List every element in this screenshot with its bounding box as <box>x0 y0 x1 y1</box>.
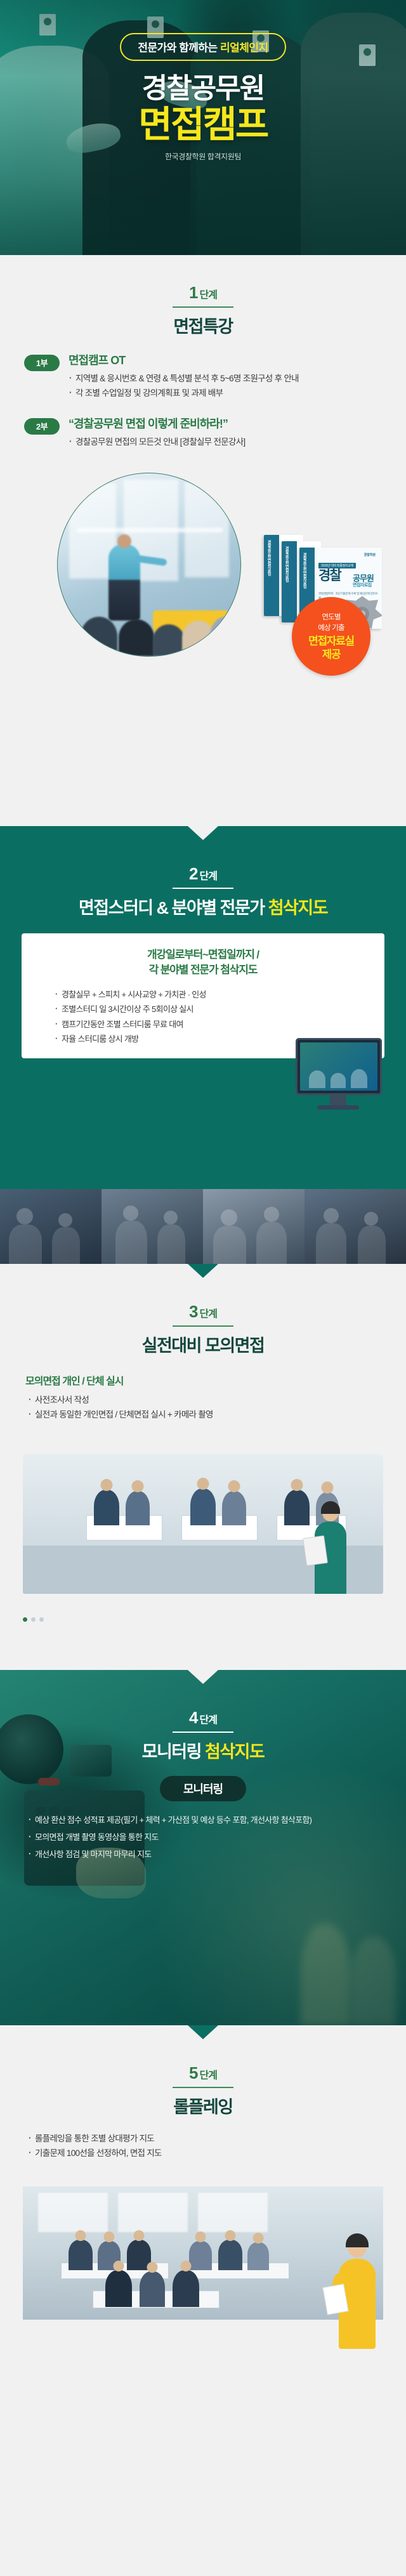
step-3-unit: 단계 <box>200 1309 217 1320</box>
step-2-unit: 단계 <box>200 871 217 882</box>
step-2-title-accent: 첨삭지도 <box>268 898 327 917</box>
step-5-number: 5 <box>189 2063 197 2082</box>
book-tag: 2025년 대비 최종정리교재 <box>318 563 356 568</box>
step-5-header: 5단계 롤플레잉 <box>0 2065 406 2117</box>
step-1-divider <box>173 306 233 308</box>
step-1-number-row: 1단계 <box>189 284 217 301</box>
dot-3[interactable] <box>39 1617 44 1622</box>
card-title-line2: 각 분야별 전문가 첨삭지도 <box>149 964 258 976</box>
step-3-divider <box>173 1325 233 1327</box>
step-4-title-accent: 첨삭지도 <box>205 1742 264 1761</box>
step-2-header: 2단계 면접스터디 & 분야별 전문가 첨삭지도 <box>0 865 406 918</box>
monitoring-pill-badge: 모니터링 <box>160 1776 246 1801</box>
card-title: 개강일로부터~면접일까지 / 각 분야별 전문가 첨삭지도 <box>22 947 384 978</box>
book-spine-text: 경찰공무원 면접자료집 <box>301 553 306 588</box>
bullet-item: 실전과 동일한 개인면접 / 단체면접 실시 + 카메라 촬영 <box>28 1409 406 1421</box>
step-5-visual <box>0 2175 406 2359</box>
section-step-2: 2단계 면접스터디 & 분야별 전문가 첨삭지도 개강일로부터~면접일까지 / … <box>0 826 406 1264</box>
section-step-4: 4단계 모니터링 첨삭지도 모니터링 예상 환산 점수 성적표 제공(필기 + … <box>0 1670 406 2025</box>
bullet-item: 경찰실무 + 스피치 + 시사교양 + 가치관 · 인성 <box>55 989 384 1001</box>
book-title-small: 면접자료집 <box>353 582 372 588</box>
step-1-title: 면접특강 <box>173 318 232 337</box>
bullet-item: 사전조사서 작성 <box>28 1394 406 1407</box>
part-bullets-1bu: 지역별 & 응시번호 & 연령 & 특성별 분석 후 5~6명 조원구성 후 안… <box>69 372 382 400</box>
step-3-bullets: 사전조사서 작성 실전과 동일한 개인면접 / 단체면접 실시 + 카메라 촬영 <box>28 1394 406 1422</box>
bullet-item: 각 조별 수업일정 및 강의계획표 및 과제 배부 <box>69 387 382 400</box>
card-bullets: 경찰실무 + 스피치 + 시사교양 + 가치관 · 인성 조별스터디 일 3시간… <box>22 989 384 1046</box>
photo-pagination-dots[interactable] <box>23 1617 44 1622</box>
bullet-item: 개선사항 점검 및 마지막 마무리 지도 <box>28 1848 383 1861</box>
step-2-title-white: 면접스터디 & 분야별 전문가 <box>79 898 268 917</box>
section-step-5: 5단계 롤플레잉 롤플레잉을 통한 조별 상대평가 지도 기출문제 100선을 … <box>0 2025 406 2381</box>
landing-page: 전문가와 함께하는 리얼체인지 경찰공무원 면접캠프 한국경찰학원 합격지원팀 … <box>0 0 406 2576</box>
step-3-number-row: 3단계 <box>189 1303 217 1320</box>
material-provided-badge: 연도별예상 기출 면접자료실제공 <box>292 597 370 676</box>
badge-top-text: 연도별예상 기출 <box>318 612 344 633</box>
photo-thumb <box>203 1189 304 1264</box>
step-2-number-row: 2단계 <box>189 865 217 882</box>
badge-main-text: 면접자료실제공 <box>308 635 354 661</box>
part-chip-1bu: 1부 <box>24 355 60 371</box>
book-title-big: 경찰 <box>318 569 341 582</box>
bullet-item: 캠프기간동안 조별 스터디룸 무료 대여 <box>55 1018 384 1031</box>
step-4-divider <box>173 1732 233 1733</box>
bullet-item: 롤플레잉을 통한 조별 상대평가 지도 <box>28 2132 406 2145</box>
step-3-subheading: 모의면접 개인 / 단체 실시 <box>25 1372 406 1388</box>
part-chip-2bu: 2부 <box>24 418 60 435</box>
step-2-title: 면접스터디 & 분야별 전문가 첨삭지도 <box>79 899 327 918</box>
section-step-3: 3단계 실전대비 모의면접 모의면접 개인 / 단체 실시 사전조사서 작성 실… <box>0 1264 406 1670</box>
part-row-1bu: 1부 면접캠프 OT 지역별 & 응시번호 & 연령 & 특성별 분석 후 5~… <box>0 353 406 400</box>
hero-ribbon: 전문가와 함께하는 리얼체인지 <box>120 33 285 61</box>
dot-2[interactable] <box>31 1617 36 1622</box>
step-3-header: 3단계 실전대비 모의면접 <box>0 1303 406 1356</box>
step-5-title: 롤플레잉 <box>173 2098 232 2117</box>
bullet-item: 모의면접 개별 촬영 동영상을 통한 지도 <box>28 1831 383 1844</box>
step-5-bullets: 롤플레잉을 통한 조별 상대평가 지도 기출문제 100선을 선정하여, 면접 … <box>28 2132 406 2160</box>
step-4-header: 4단계 모니터링 첨삭지도 <box>0 1709 406 1762</box>
step-2-divider <box>173 888 233 889</box>
step-5-number-row: 5단계 <box>189 2065 217 2081</box>
step-4-title-white: 모니터링 <box>142 1742 205 1761</box>
monitor-illustration <box>296 1038 382 1114</box>
study-photo-strip <box>0 1189 406 1264</box>
bullet-item: 지역별 & 응시번호 & 연령 & 특성별 분석 후 5~6명 조원구성 후 안… <box>69 372 382 385</box>
hero-title-line1: 경찰공무원 <box>142 75 264 103</box>
step-4-bullets: 예상 환산 점수 성적표 제공(필기 + 체력 + 가산점 및 예상 등수 포함… <box>28 1814 383 1861</box>
hero-ribbon-accent: 리얼체인지 <box>220 42 268 54</box>
card-title-line1: 개강일로부터~면접일까지 / <box>147 949 259 961</box>
photo-thumb <box>101 1189 203 1264</box>
book-spine-text: 경찰공무원 면접자료집 <box>284 546 289 582</box>
book-spine-text: 경찰공무원 면접자료집 <box>266 540 271 575</box>
hero-title-line2: 면접캠프 <box>138 107 267 143</box>
section-step-1: 1단계 면접특강 1부 면접캠프 OT 지역별 & 응시번호 & 연령 & 특성… <box>0 255 406 826</box>
bullet-item: 기출문제 100선을 선정하여, 면접 지도 <box>28 2147 406 2160</box>
part-heading-1bu: 면접캠프 OT <box>69 353 382 368</box>
instructor-figure <box>311 1502 350 1594</box>
lecture-photo-circle <box>57 473 241 657</box>
step-1-visual: 경찰공무원 면접자료집 경찰공무원 면접자료집 경찰공무원 면접자료집 경찰학원… <box>0 465 406 719</box>
step-4-unit: 단계 <box>200 1715 217 1726</box>
step-1-unit: 단계 <box>200 290 217 301</box>
hero-banner: 전문가와 함께하는 리얼체인지 경찰공무원 면접캠프 한국경찰학원 합격지원팀 <box>0 0 406 255</box>
presenter-figure <box>334 2231 381 2349</box>
photo-thumb <box>304 1189 406 1264</box>
step-5-unit: 단계 <box>200 2070 217 2081</box>
step-5-divider <box>173 2087 233 2088</box>
step-2-number: 2 <box>189 864 197 883</box>
part-row-2bu: 2부 “경찰공무원 면접 이렇게 준비하라!” 경찰공무원 면접의 모든것 안내… <box>0 417 406 449</box>
step-1-number: 1 <box>189 283 197 302</box>
hero-subtitle: 한국경찰학원 합격지원팀 <box>165 151 241 162</box>
bullet-item: 경찰공무원 면접의 모든것 안내 [경찰실무 전문강사] <box>69 436 382 449</box>
step-3-visual <box>0 1435 406 1626</box>
step-4-number: 4 <box>189 1708 197 1727</box>
section-notch-icon <box>188 826 218 840</box>
section-notch-icon <box>188 1264 218 1278</box>
section-notch-icon <box>188 1670 218 1684</box>
dot-1[interactable] <box>23 1617 27 1622</box>
mock-interview-photo <box>23 1454 383 1594</box>
part-bullets-2bu: 경찰공무원 면접의 모든것 안내 [경찰실무 전문강사] <box>69 436 382 449</box>
step-3-number: 3 <box>189 1302 197 1321</box>
section-notch-icon <box>188 2025 218 2039</box>
photo-thumb <box>0 1189 101 1264</box>
step-4-number-row: 4단계 <box>189 1709 217 1726</box>
step-4-title: 모니터링 첨삭지도 <box>142 1743 265 1762</box>
step-3-title: 실전대비 모의면접 <box>142 1337 265 1356</box>
bullet-item: 예상 환산 점수 성적표 제공(필기 + 체력 + 가산점 및 예상 등수 포함… <box>28 1814 383 1827</box>
step-1-header: 1단계 면접특강 <box>0 284 406 337</box>
part-heading-2bu: “경찰공무원 면접 이렇게 준비하라!” <box>69 417 382 431</box>
hero-ribbon-prefix: 전문가와 함께하는 <box>138 42 220 54</box>
bullet-item: 조별스터디 일 3시간이상 주 5회이상 실시 <box>55 1003 384 1016</box>
book-brand: 경찰학원 <box>364 553 376 557</box>
